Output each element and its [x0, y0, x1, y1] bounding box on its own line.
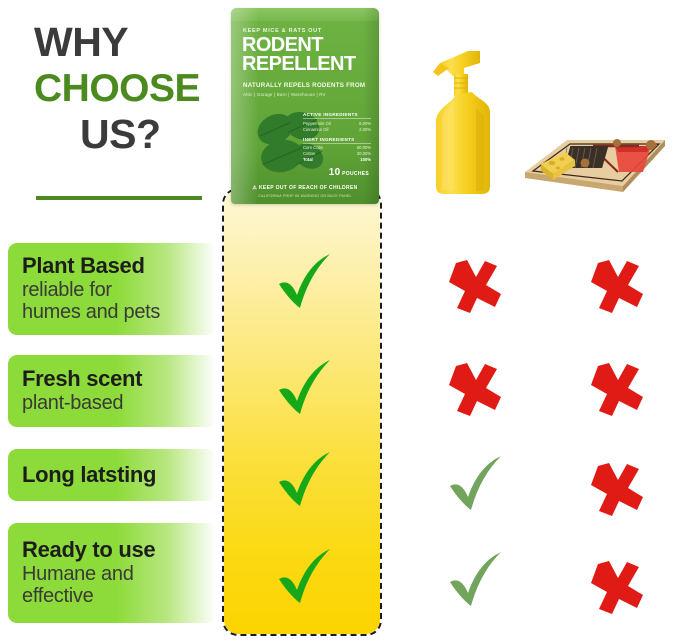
feature-subtitle: effective [22, 585, 204, 607]
feature-item: Long latsting [8, 449, 216, 501]
mouse-trap-icon [519, 116, 671, 200]
verdict-cross-trap-row-1 [585, 255, 649, 319]
ingredient-value: 2.00% [359, 127, 371, 133]
feature-item: Fresh scent plant-based [8, 355, 216, 427]
feature-subtitle: plant-based [22, 392, 204, 414]
pouch-count-label: POUCHES [342, 171, 369, 177]
spray-bottle-icon [424, 46, 510, 196]
package-claim: NATURALLY REPELS RODENTS FROM [243, 82, 365, 89]
pouch-count-number: 10 [329, 167, 341, 178]
headline-divider [36, 196, 202, 200]
feature-subtitle: Humane and [22, 563, 204, 585]
active-ingredients-heading: ACTIVE INGREDIENTS [303, 112, 371, 119]
verdict-cross-trap-row-3 [585, 458, 649, 522]
headline-line-1: WHY [34, 22, 234, 63]
package-fine-print: CALIFORNIA PROP 65 WARNING ON BACK PANEL [231, 194, 379, 198]
package-warning: ⚠ KEEP OUT OF REACH OF CHILDREN [231, 185, 379, 191]
feature-title: Ready to use [22, 538, 204, 563]
verdict-check-spray-row-3 [443, 452, 507, 516]
verdict-check-product-row-1 [272, 250, 336, 314]
package-title-line-1: RODENT [242, 36, 356, 55]
verdict-cross-spray-row-2 [443, 358, 507, 422]
verdict-check-product-row-4 [272, 545, 336, 609]
feature-title: Long latsting [22, 463, 204, 488]
pouch-count: 10 POUCHES [329, 167, 369, 178]
package-title: RODENT REPELLENT [242, 36, 356, 74]
package-title-line-2: REPELLENT [242, 55, 356, 74]
why-choose-us-infographic: WHY CHOOSE US? Plant Based reliable for … [0, 0, 679, 644]
verdict-cross-trap-row-2 [585, 358, 649, 422]
verdict-cross-trap-row-4 [585, 556, 649, 620]
headline-line-2: CHOOSE [34, 69, 234, 108]
feature-item: Plant Based reliable for humes and pets [8, 243, 216, 335]
ingredient-name: Total [303, 157, 313, 163]
feature-title: Fresh scent [22, 367, 204, 392]
headline-line-3: US? [34, 114, 234, 155]
product-package: KEEP MICE & RATS OUT RODENT REPELLENT NA… [231, 8, 379, 204]
feature-subtitle: humes and pets [22, 301, 204, 323]
verdict-check-product-row-3 [272, 448, 336, 512]
feature-title: Plant Based [22, 254, 204, 279]
ingredient-value: 100% [360, 157, 371, 163]
feature-subtitle: reliable for [22, 279, 204, 301]
feature-item: Ready to use Humane and effective [8, 523, 216, 623]
verdict-check-product-row-2 [272, 356, 336, 420]
ingredient-name: Cinnamon Oil [303, 127, 328, 133]
inert-ingredients-heading: INERT INGREDIENTS [303, 137, 371, 144]
page-title: WHY CHOOSE US? [34, 22, 234, 161]
ingredient-total-row: Total 100% [303, 157, 371, 163]
package-highlight [231, 8, 257, 204]
verdict-check-spray-row-4 [443, 548, 507, 612]
verdict-cross-spray-row-1 [443, 255, 507, 319]
ingredients-panel: ACTIVE INGREDIENTS Peppermint Oil 8.00% … [303, 112, 371, 163]
